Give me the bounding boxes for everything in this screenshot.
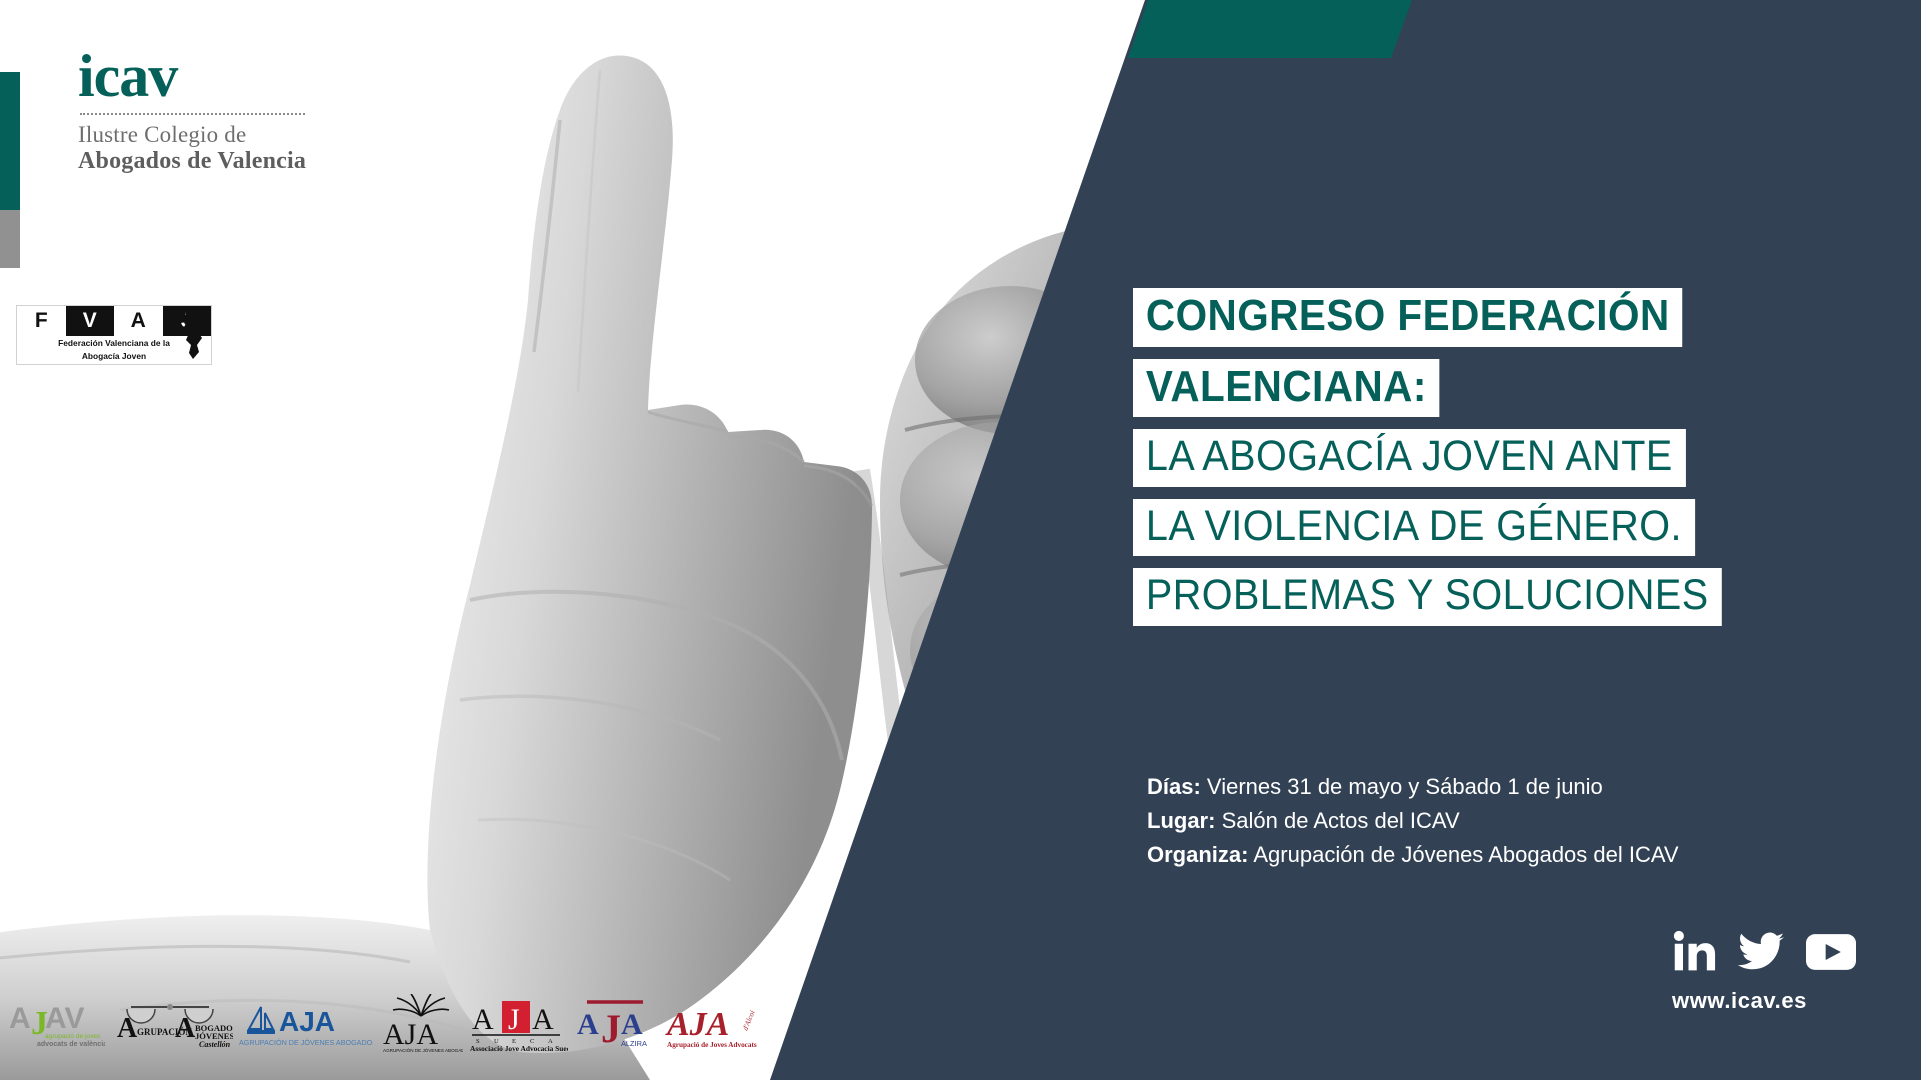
partner-logo-strip: A J AV agrupació de joves advocats de va… [0, 970, 780, 1080]
svg-text:ALZIRA: ALZIRA [621, 1039, 647, 1048]
svg-text:AV: AV [45, 1002, 84, 1035]
detail-organiza: Organiza: Agrupación de Jóvenes Abogados… [1147, 838, 1679, 872]
title-line-5: PROBLEMAS Y SOLUCIONES [1133, 568, 1721, 626]
partner-logo-aja-alzira: A J A ALZIRA [570, 990, 662, 1060]
icav-subtitle-line1: Ilustre Colegio de [78, 122, 378, 148]
detail-dias: Días: Viernes 31 de mayo y Sábado 1 de j… [1147, 770, 1679, 804]
linkedin-icon[interactable] [1672, 930, 1716, 974]
svg-text:A: A [117, 1013, 138, 1044]
teal-side-bar [0, 72, 20, 210]
social-links[interactable] [1672, 930, 1856, 974]
svg-text:A: A [472, 1003, 494, 1036]
svg-text:J: J [508, 1003, 520, 1036]
partner-logo-aja-alcoi: AJA d'Alcoi Agrupació de Joves Advocats [662, 990, 774, 1060]
detail-dias-label: Días: [1147, 774, 1201, 799]
partner-logo-aja-alicante: AJA AGRUPACIÓN DE JÓVENES ABOGADOS DE AL… [236, 990, 376, 1060]
svg-text:J: J [601, 1006, 621, 1051]
fvaj-letter-a: A [114, 306, 163, 336]
icav-divider [80, 113, 305, 115]
svg-text:agrupació de joves: agrupació de joves [45, 1033, 101, 1040]
gray-side-bar [0, 210, 20, 268]
detail-organiza-value: Agrupación de Jóvenes Abogados del ICAV [1253, 842, 1678, 867]
title-line-3: LA ABOGACÍA JOVEN ANTE [1133, 429, 1686, 487]
icav-subtitle-line2: Abogados de Valencia [78, 148, 378, 176]
title-block: CONGRESO FEDERACIÓN VALENCIANA: LA ABOGA… [1133, 288, 1773, 638]
svg-text:A: A [175, 1013, 196, 1044]
svg-text:AJA: AJA [665, 1006, 729, 1043]
icav-logo: icav Ilustre Colegio de Abogados de Vale… [78, 48, 378, 176]
event-details: Días: Viernes 31 de mayo y Sábado 1 de j… [1147, 770, 1679, 872]
svg-text:advocats de valència: advocats de valència [37, 1041, 105, 1048]
svg-text:d'Alcoi: d'Alcoi [741, 1009, 757, 1032]
svg-text:Agrupació de Joves Advocats: Agrupació de Joves Advocats [667, 1041, 757, 1049]
detail-lugar-value: Salón de Actos del ICAV [1222, 808, 1460, 833]
fvaj-letter-f: F [17, 306, 66, 336]
svg-text:A: A [621, 1008, 643, 1041]
icav-wordmark: icav [78, 48, 378, 105]
partner-logo-aja-sueca: A J A S U E C A Associació Jove Advocaci… [466, 990, 570, 1060]
svg-text:Associació Jove Advocacia Suec: Associació Jove Advocacia Sueca [470, 1044, 568, 1053]
twitter-icon[interactable] [1738, 931, 1784, 973]
svg-text:AGRUPACIÓN DE JÓVENES ABOGADOS: AGRUPACIÓN DE JÓVENES ABOGADOS DE ELCHE [383, 1047, 463, 1053]
svg-text:Castellón: Castellón [199, 1040, 231, 1049]
svg-text:AGRUPACIÓN DE JÓVENES ABOGADOS: AGRUPACIÓN DE JÓVENES ABOGADOS DE ALICAN… [239, 1038, 373, 1047]
valencia-map-icon [178, 307, 206, 361]
svg-text:AJA: AJA [279, 1006, 335, 1037]
title-line-1: CONGRESO FEDERACIÓN [1133, 288, 1683, 347]
title-line-4: LA VIOLENCIA DE GÉNERO. [1133, 499, 1695, 557]
poster-canvas: icav Ilustre Colegio de Abogados de Vale… [0, 0, 1921, 1080]
partner-logo-aja-castellon: A GRUPACIÓN A BOGADOS JÓVENES Castellón [110, 990, 236, 1060]
svg-text:A: A [532, 1003, 554, 1036]
svg-text:A: A [9, 1002, 31, 1035]
youtube-icon[interactable] [1806, 934, 1856, 970]
title-line-2: VALENCIANA: [1133, 359, 1440, 418]
detail-lugar-label: Lugar: [1147, 808, 1215, 833]
detail-lugar: Lugar: Salón de Actos del ICAV [1147, 804, 1679, 838]
svg-text:AJA: AJA [383, 1018, 438, 1051]
detail-organiza-label: Organiza: [1147, 842, 1248, 867]
website-url[interactable]: www.icav.es [1672, 988, 1807, 1014]
detail-dias-value: Viernes 31 de mayo y Sábado 1 de junio [1207, 774, 1603, 799]
partner-logo-aja-elche: AJA AGRUPACIÓN DE JÓVENES ABOGADOS DE EL… [376, 990, 466, 1060]
fvaj-letter-v: V [66, 306, 115, 336]
partner-logo-ajav-valencia: A J AV agrupació de joves advocats de va… [0, 990, 110, 1060]
svg-text:A: A [577, 1008, 599, 1041]
